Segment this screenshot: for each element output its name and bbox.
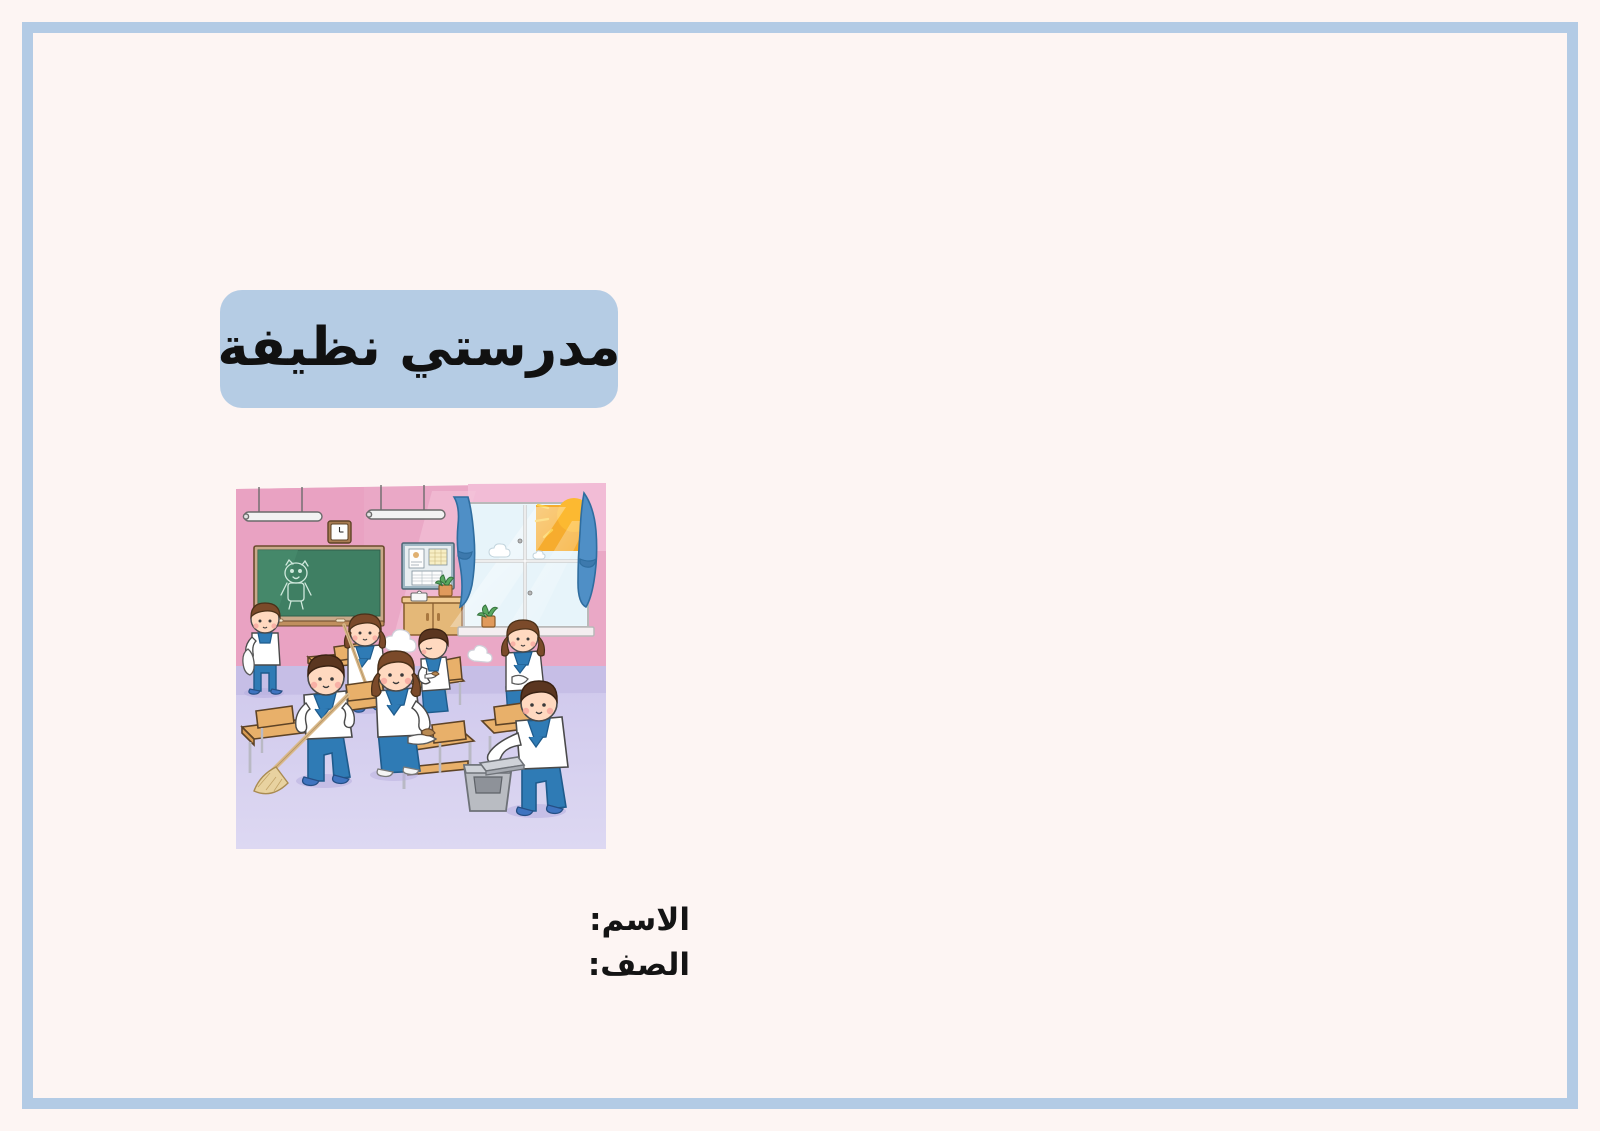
- worksheet-page: مدرستي نظيفة: [0, 0, 1600, 1131]
- class-field-label: الصف:: [588, 943, 690, 988]
- classroom-cleaning-illustration: [236, 481, 606, 849]
- name-field-label: الاسم:: [588, 898, 690, 943]
- page-title: مدرستي نظيفة: [217, 321, 620, 374]
- student-info-fields: الاسم: الصف:: [588, 898, 690, 988]
- title-badge: مدرستي نظيفة: [220, 290, 618, 408]
